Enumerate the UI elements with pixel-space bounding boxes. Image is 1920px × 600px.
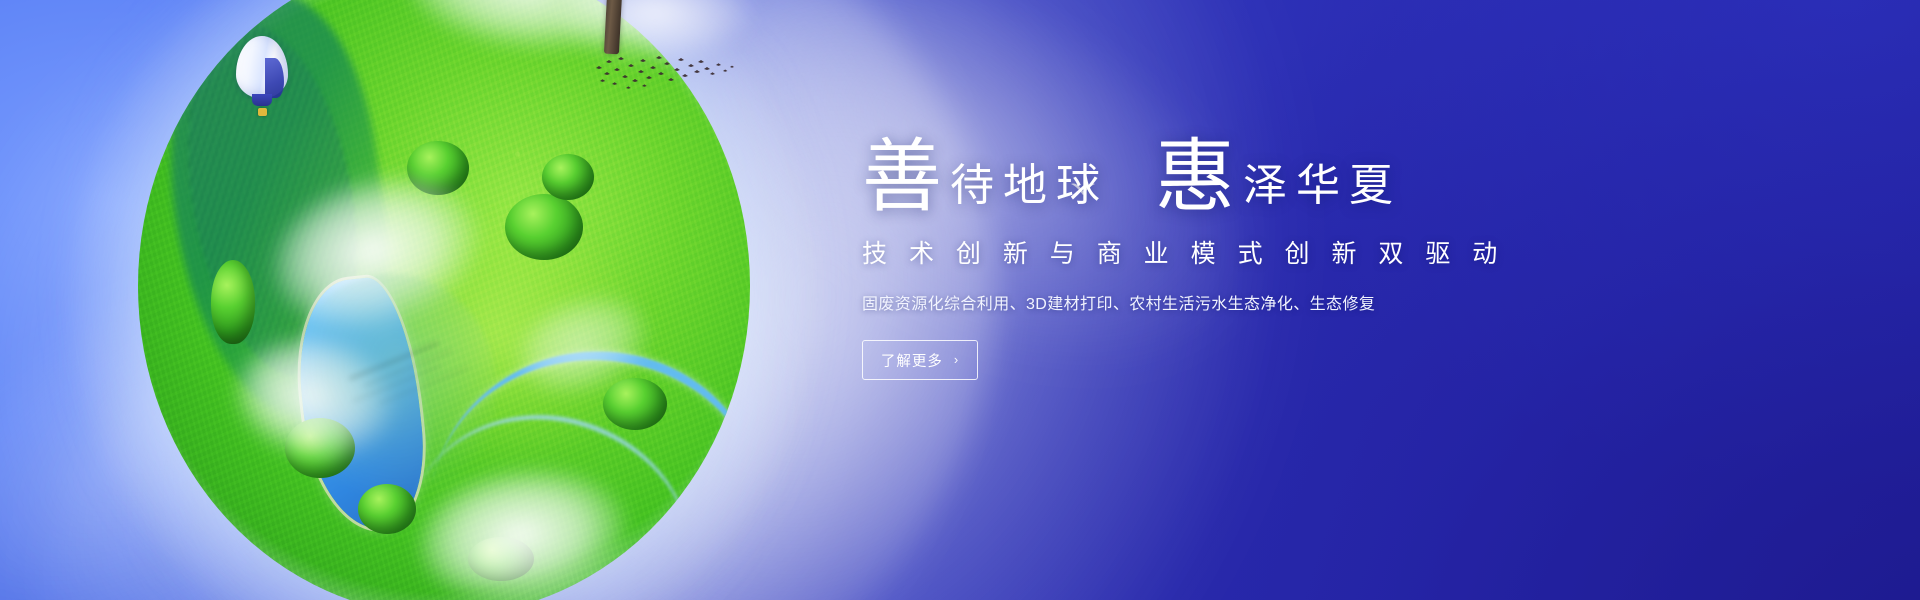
page-title: 善 待地球 惠 泽华夏: [862, 120, 1862, 212]
bird-flock-icon: [592, 50, 742, 96]
learn-more-button[interactable]: 了解更多 ›: [862, 340, 978, 380]
tree-cluster-3: [542, 154, 594, 200]
headline-char-shan: 善: [862, 138, 942, 218]
tagline: 技 术 创 新 与 商 业 模 式 创 新 双 驱 动: [862, 234, 1862, 270]
balloon-stripe: [265, 58, 284, 98]
chevron-right-icon: ›: [954, 352, 959, 367]
tree-cluster-6: [211, 260, 255, 344]
hot-air-balloon-icon: [236, 36, 288, 126]
balloon-basket: [258, 108, 267, 116]
headline-daidiqiu: 待地球: [942, 164, 1109, 208]
hero-banner: 善 待地球 惠 泽华夏 技 术 创 新 与 商 业 模 式 创 新 双 驱 动 …: [0, 0, 1920, 600]
tree-branch: [349, 342, 439, 380]
hero-copy: 善 待地球 惠 泽华夏 技 术 创 新 与 商 业 模 式 创 新 双 驱 动 …: [862, 120, 1862, 380]
tree-cluster-2: [505, 194, 583, 260]
learn-more-label: 了解更多: [881, 350, 943, 371]
description-text: 固废资源化综合利用、3D建材打印、农村生活污水生态净化、生态修复: [862, 290, 1862, 314]
balloon-skirt: [252, 94, 272, 106]
headline-char-hui: 惠: [1155, 138, 1235, 218]
mirrored-tree-silhouette: [286, 274, 496, 494]
headline-zehuaxia: 泽华夏: [1235, 164, 1402, 208]
